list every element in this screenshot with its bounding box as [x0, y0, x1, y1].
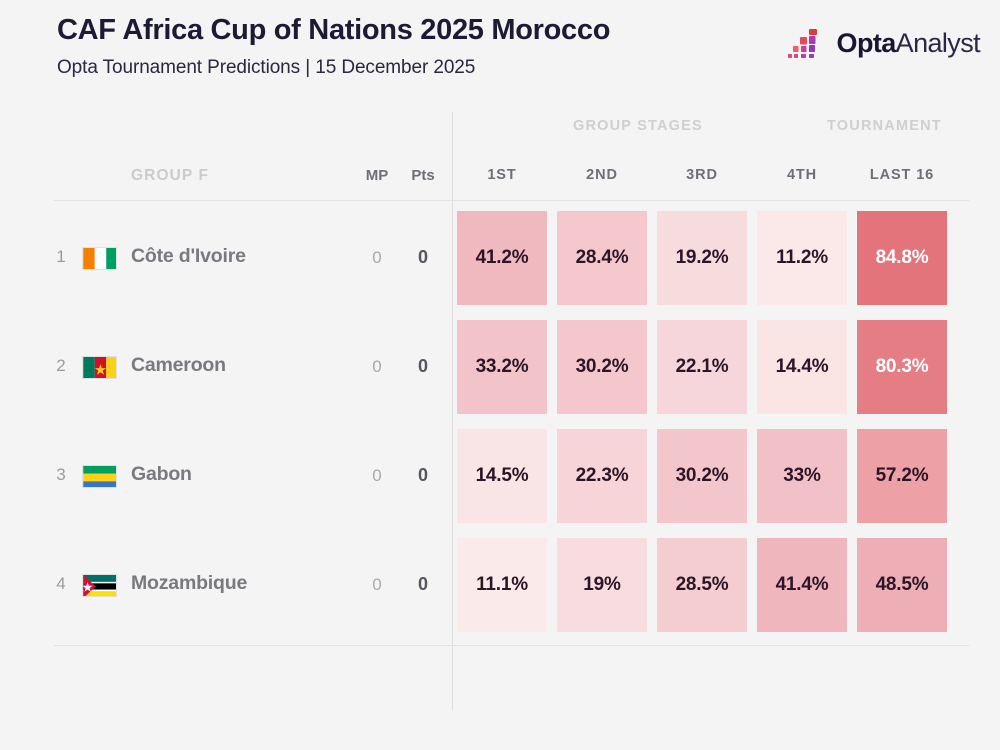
column-header-mp: MP [362, 167, 392, 184]
section-header-group-stages: GROUP STAGES [573, 118, 703, 134]
table-row[interactable]: 4Mozambique0011.1%19%28.5%41.4%48.5% [0, 530, 1000, 639]
matches-played-value: 0 [362, 575, 392, 595]
column-header-last-16: LAST 16 [857, 167, 947, 183]
probability-cell: 22.1% [657, 320, 747, 414]
row-rank: 2 [52, 356, 70, 376]
table-row[interactable]: 3Gabon0014.5%22.3%30.2%33%57.2% [0, 421, 1000, 530]
matches-played-value: 0 [362, 466, 392, 486]
probability-cell: 33% [757, 429, 847, 523]
section-header-tournament: TOURNAMENT [827, 118, 942, 134]
probability-cell: 19% [557, 538, 647, 632]
matches-played-value: 0 [362, 357, 392, 377]
group-name-header: GROUP F [131, 167, 209, 185]
flag-mozambique-icon [82, 574, 117, 597]
column-header-4th: 4TH [757, 167, 847, 183]
probability-cell: 41.4% [757, 538, 847, 632]
probability-cell: 84.8% [857, 211, 947, 305]
team-name[interactable]: Côte d'Ivoire [131, 245, 246, 268]
column-header-3rd: 3RD [657, 167, 747, 183]
probability-cell: 57.2% [857, 429, 947, 523]
table-row[interactable]: 1Côte d'Ivoire0041.2%28.4%19.2%11.2%84.8… [0, 203, 1000, 312]
column-header-pts: Pts [404, 167, 442, 184]
points-value: 0 [404, 247, 442, 268]
probability-cell: 22.3% [557, 429, 647, 523]
probability-cell: 11.1% [457, 538, 547, 632]
points-value: 0 [404, 356, 442, 377]
probability-cell: 33.2% [457, 320, 547, 414]
row-rank: 1 [52, 247, 70, 267]
probability-cell: 48.5% [857, 538, 947, 632]
row-rank: 3 [52, 465, 70, 485]
flag-cameroon-icon [82, 356, 117, 379]
team-name[interactable]: Cameroon [131, 354, 226, 377]
probability-cell: 14.5% [457, 429, 547, 523]
probability-cell: 28.4% [557, 211, 647, 305]
table-row[interactable]: 2Cameroon0033.2%30.2%22.1%14.4%80.3% [0, 312, 1000, 421]
probability-cell: 14.4% [757, 320, 847, 414]
points-value: 0 [404, 574, 442, 595]
row-rank: 4 [52, 574, 70, 594]
probability-cell: 80.3% [857, 320, 947, 414]
probability-cell: 28.5% [657, 538, 747, 632]
probability-cell: 41.2% [457, 211, 547, 305]
probability-cell: 30.2% [657, 429, 747, 523]
table-top-rule [54, 200, 969, 201]
matches-played-value: 0 [362, 248, 392, 268]
points-value: 0 [404, 465, 442, 486]
probability-cell: 19.2% [657, 211, 747, 305]
team-name[interactable]: Mozambique [131, 572, 247, 595]
predictions-table: GROUP STAGES TOURNAMENT GROUP F MP Pts 1… [0, 0, 1000, 750]
flag-gabon-icon [82, 465, 117, 488]
column-header-2nd: 2ND [557, 167, 647, 183]
column-header-1st: 1ST [457, 167, 547, 183]
team-name[interactable]: Gabon [131, 463, 192, 486]
flag-cote-divoire-icon [82, 247, 117, 270]
probability-cell: 11.2% [757, 211, 847, 305]
table-bottom-rule [54, 645, 969, 646]
probability-cell: 30.2% [557, 320, 647, 414]
